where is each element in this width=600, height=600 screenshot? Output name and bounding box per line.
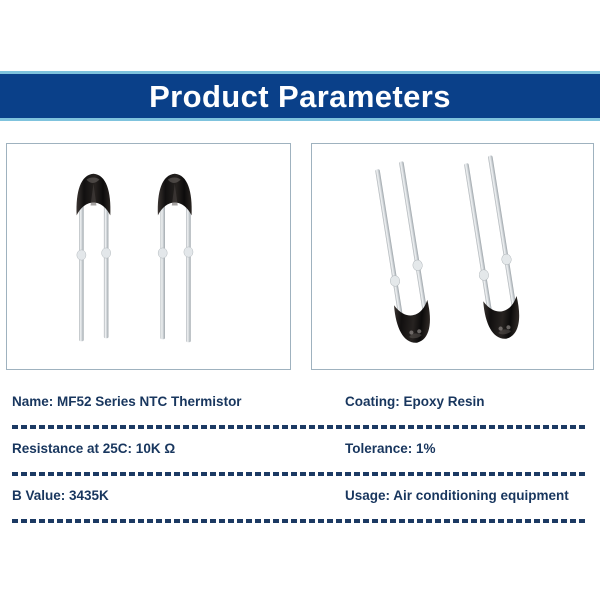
spec-row: Name: MF52 Series NTC Thermistor Coating… [0,388,600,435]
page-header-banner: Product Parameters [0,71,600,121]
spec-name-value: Name: MF52 Series NTC Thermistor [12,394,242,410]
banner-bottom-rule [0,118,600,121]
ntc-thermistor-pair-inverted-illustration [312,144,593,369]
thermistor-unit [158,174,193,343]
spec-resistance-value: Resistance at 25C: 10K Ω [12,441,175,457]
thermistor-unit [461,155,524,342]
spec-coating-value: Coating: Epoxy Resin [345,394,485,410]
thermistor-unit [372,161,435,346]
spec-usage-value: Usage: Air conditioning equipment [345,488,569,504]
product-parameters-list: Name: MF52 Series NTC Thermistor Coating… [0,388,600,529]
page-title: Product Parameters [149,81,451,112]
spec-separator [12,425,588,429]
banner-bar: Product Parameters [0,74,600,118]
spec-row: B Value: 3435K Usage: Air conditioning e… [0,482,600,529]
product-photo-left [6,143,291,370]
spec-row: Resistance at 25C: 10K Ω Tolerance: 1% [0,435,600,482]
product-photo-right [311,143,594,370]
spec-separator [12,472,588,476]
spec-separator [12,519,588,523]
spec-tolerance-value: Tolerance: 1% [345,441,436,457]
thermistor-unit [77,174,111,342]
ntc-thermistor-pair-upright-illustration [7,144,290,369]
spec-bvalue-value: B Value: 3435K [12,488,109,504]
